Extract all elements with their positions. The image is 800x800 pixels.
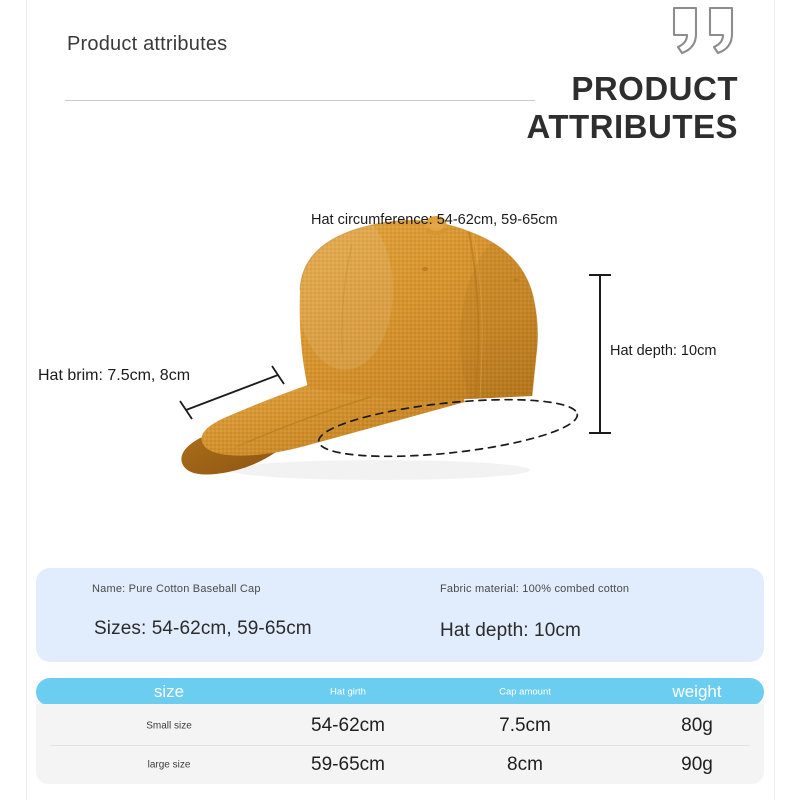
product-illustration: Hat circumference: 54-62cm, 59-65cm Hat … <box>0 170 800 520</box>
annotation-hat-brim: Hat brim: 7.5cm, 8cm <box>38 367 190 385</box>
column-header-cap-amount: Cap amount <box>499 687 551 698</box>
info-sizes: Sizes: 54-62cm, 59-65cm <box>94 618 312 640</box>
page-title: PRODUCT ATTRIBUTES <box>318 70 738 147</box>
product-attributes-page: Product attributes PRODUCT ATTRIBUTES <box>0 0 800 800</box>
cell-hat-girth: 54-62cm <box>311 715 385 737</box>
table-header-row: size Hat girth Cap amount weight <box>36 678 764 706</box>
cell-hat-girth: 59-65cm <box>311 754 385 776</box>
page-title-line1: PRODUCT <box>571 70 738 107</box>
cell-cap-amount: 8cm <box>507 754 543 776</box>
cell-weight: 90g <box>681 754 713 776</box>
annotation-hat-depth: Hat depth: 10cm <box>610 343 716 359</box>
column-header-weight: weight <box>672 682 721 702</box>
column-header-size: size <box>154 682 184 702</box>
cell-size: Small size <box>146 720 192 731</box>
annotation-hat-circumference: Hat circumference: 54-62cm, 59-65cm <box>311 212 558 228</box>
info-product-name: Name: Pure Cotton Baseball Cap <box>92 583 261 595</box>
page-title-line2: ATTRIBUTES <box>318 108 738 146</box>
info-hat-depth: Hat depth: 10cm <box>440 620 581 642</box>
info-fabric-material: Fabric material: 100% combed cotton <box>440 583 629 595</box>
quote-marks-icon <box>668 6 744 56</box>
table-row: Small size 54-62cm 7.5cm 80g <box>36 706 764 745</box>
product-info-panel: Name: Pure Cotton Baseball Cap Fabric ma… <box>36 568 764 662</box>
cell-weight: 80g <box>681 715 713 737</box>
table-body: Small size 54-62cm 7.5cm 80g large size … <box>36 704 764 784</box>
cell-size: large size <box>148 759 191 770</box>
table-row: large size 59-65cm 8cm 90g <box>36 745 764 784</box>
size-spec-table: size Hat girth Cap amount weight Small s… <box>36 678 764 784</box>
cell-cap-amount: 7.5cm <box>499 715 551 737</box>
page-eyebrow-title: Product attributes <box>67 33 227 56</box>
column-header-hat-girth: Hat girth <box>330 687 366 698</box>
